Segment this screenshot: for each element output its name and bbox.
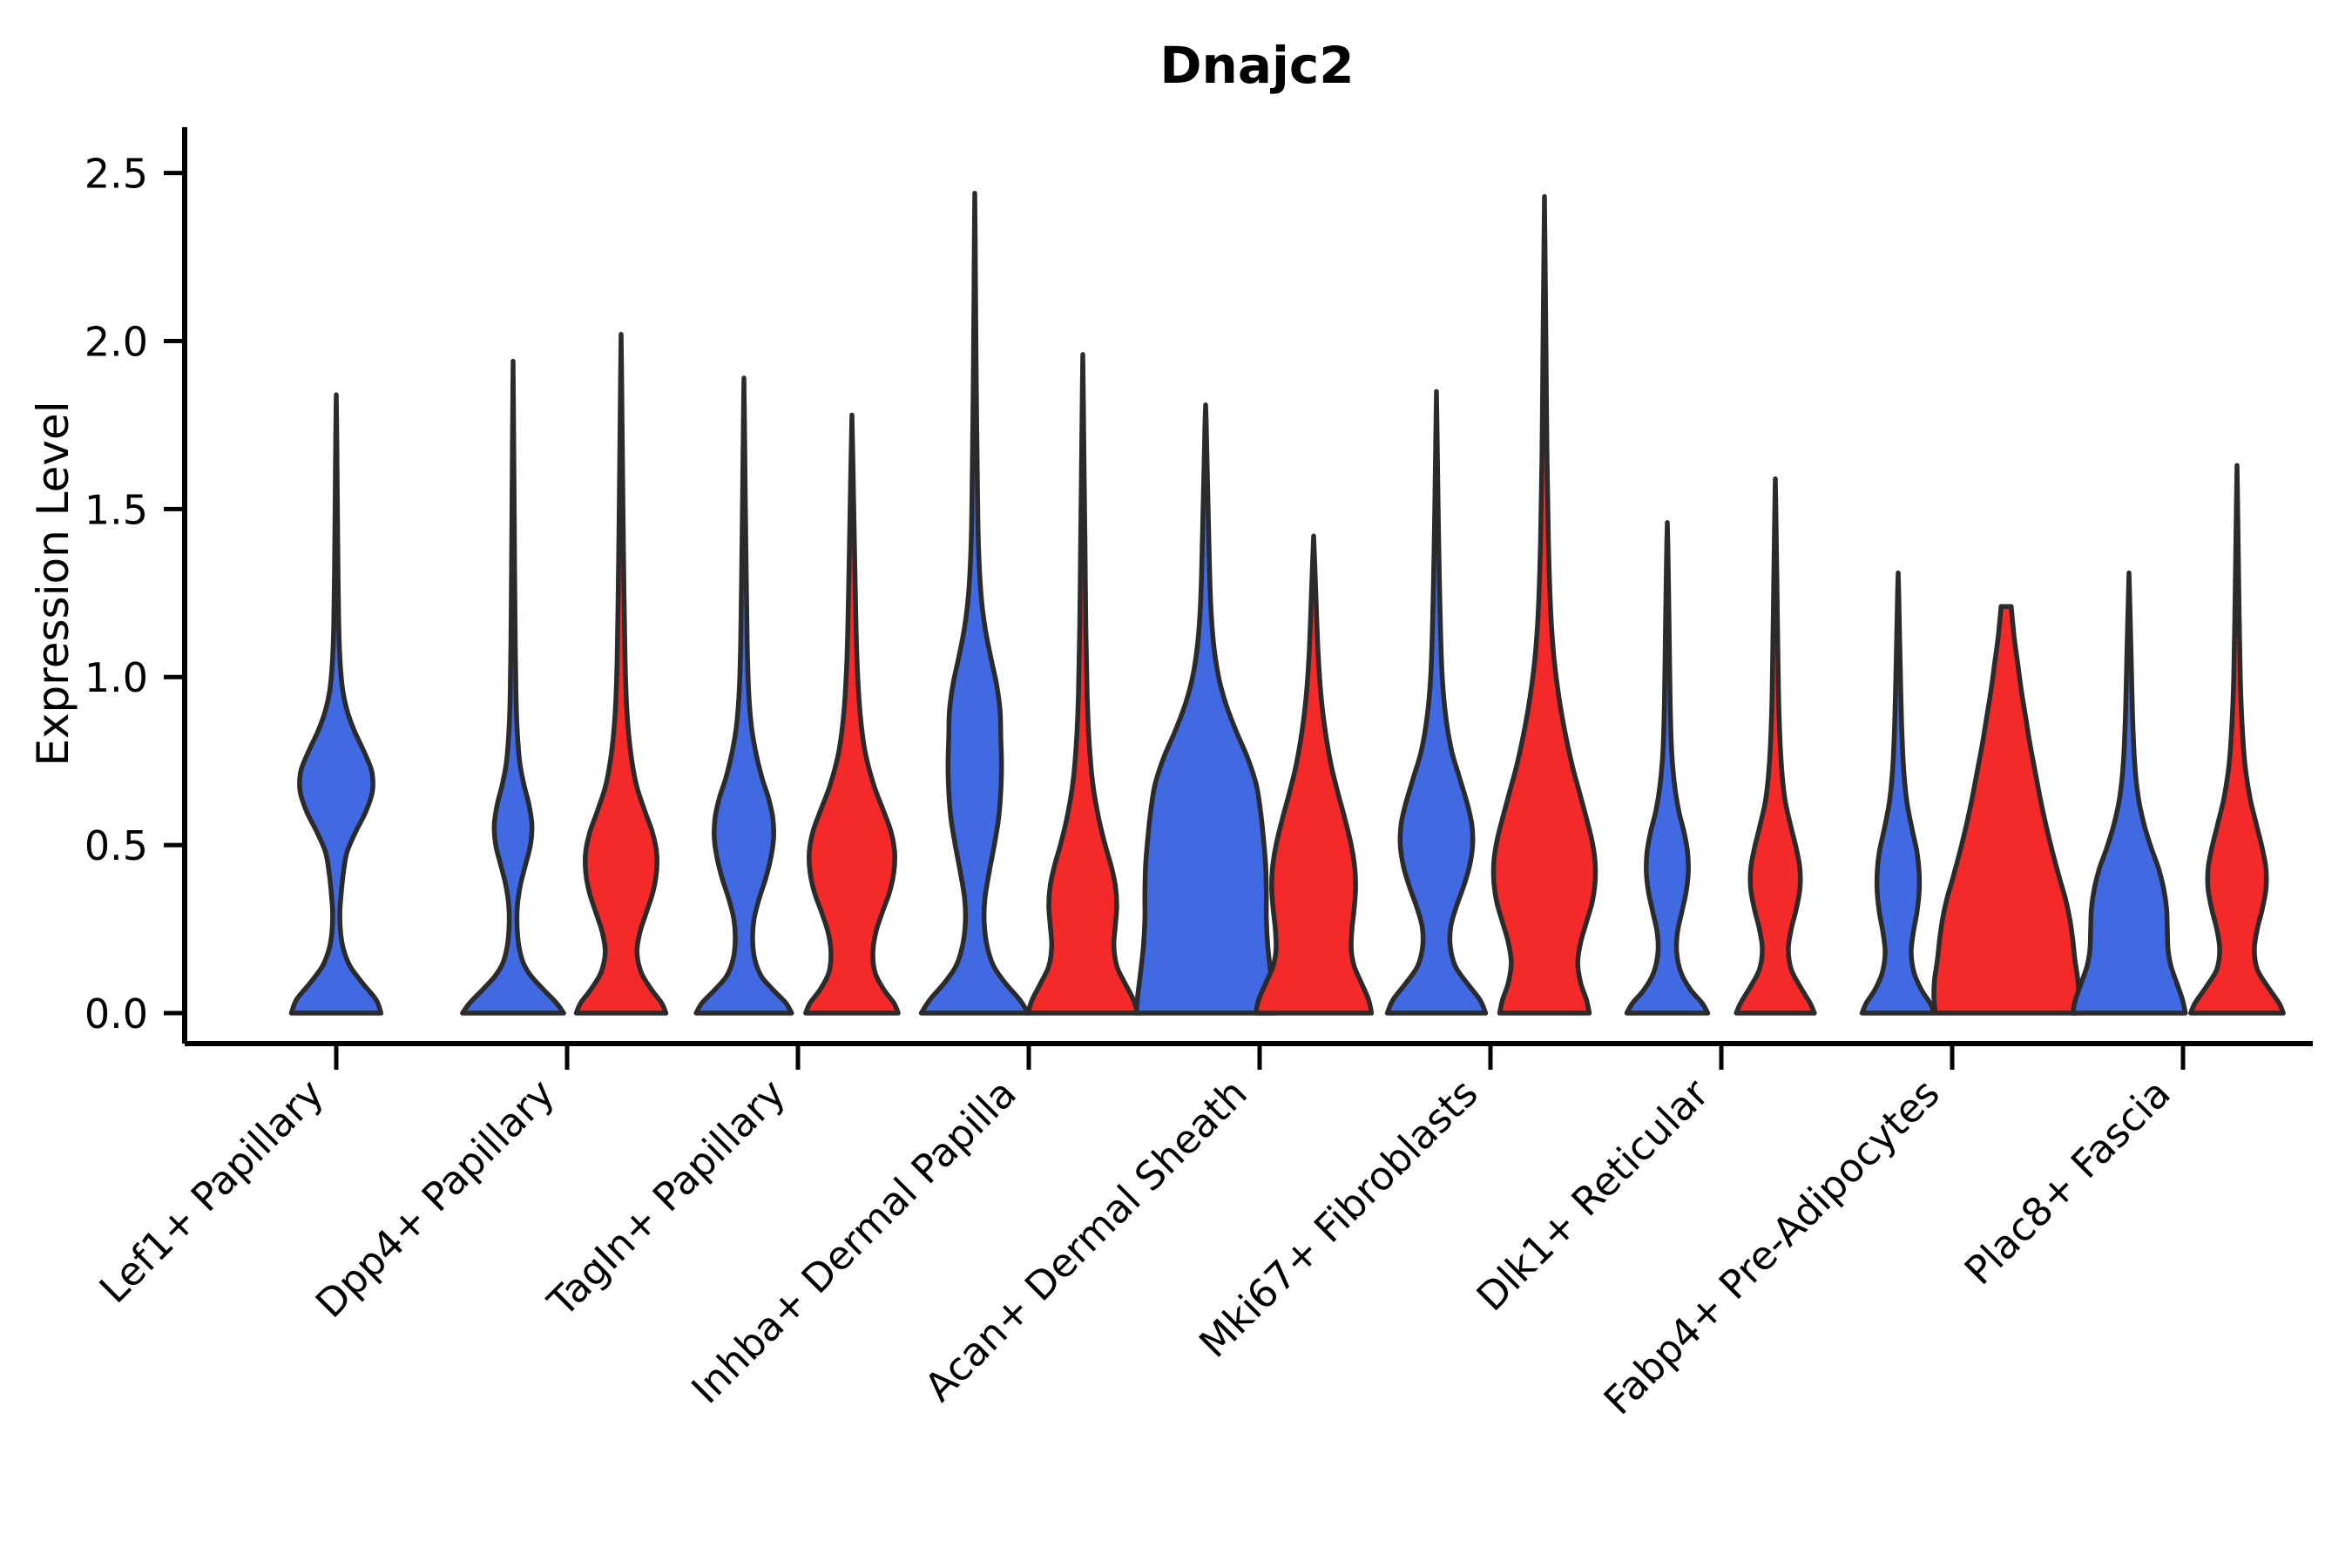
y-tick-label: 0.0 bbox=[84, 990, 148, 1037]
chart-canvas: Dnajc2 Expression Level 0.00.51.01.52.02… bbox=[0, 0, 2352, 1568]
y-tick-label: 1.5 bbox=[84, 486, 148, 533]
y-tick-label: 0.5 bbox=[84, 822, 148, 869]
y-axis-label-text: Expression Level bbox=[28, 401, 78, 766]
y-tick-label: 1.0 bbox=[84, 654, 148, 701]
violin-plot-figure: Dnajc2 Expression Level 0.00.51.01.52.02… bbox=[0, 0, 2352, 1568]
chart-title: Dnajc2 bbox=[1159, 36, 1354, 95]
y-tick-label: 2.5 bbox=[84, 151, 148, 198]
y-axis-label: Expression Level bbox=[28, 401, 78, 766]
y-tick-label: 2.0 bbox=[84, 318, 148, 365]
